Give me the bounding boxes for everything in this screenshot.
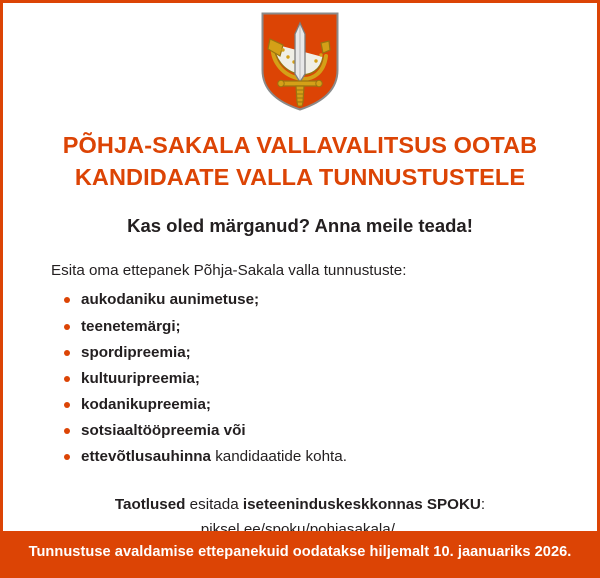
list-item-tail: kandidaatide kohta.	[211, 448, 347, 465]
announcement-poster: PÕHJA-SAKALA VALLAVALITSUS OOTAB KANDIDA…	[0, 0, 600, 578]
list-item-label: kultuuripreemia;	[81, 370, 200, 387]
bullet-dot-icon	[64, 402, 70, 408]
deadline-banner-text: Tunnustuse avaldamise ettepanekuid oodat…	[29, 544, 572, 562]
page-subtitle: Kas oled märganud? Anna meile teada!	[3, 194, 597, 238]
bullet-dot-icon	[64, 297, 70, 303]
list-item: kodanikupreemia;	[51, 392, 597, 418]
awards-intro-text: Esita oma ettepanek Põhja-Sakala valla t…	[51, 261, 597, 282]
page-title-line-1: PÕHJA-SAKALA VALLAVALITSUS OOTAB	[43, 129, 557, 161]
bullet-dot-icon	[64, 324, 70, 330]
list-item: spordipreemia;	[51, 340, 597, 366]
bullet-dot-icon	[64, 376, 70, 382]
pohja-sakala-coat-of-arms-icon	[261, 12, 339, 111]
bullet-dot-icon	[64, 428, 70, 434]
list-item-label: sotsiaaltööpreemia või	[81, 422, 246, 439]
awards-list: aukodaniku aunimetuse; teenetemärgi; spo…	[51, 287, 597, 470]
list-item-label: teenetemärgi;	[81, 318, 181, 335]
deadline-banner: Tunnustuse avaldamise ettepanekuid oodat…	[3, 531, 597, 575]
spoku-portal-label: iseteeninduskeskkonnas SPOKU	[243, 496, 481, 513]
crest-container	[3, 3, 597, 107]
list-item-label: aukodaniku aunimetuse;	[81, 291, 259, 308]
applications-colon: :	[481, 496, 485, 513]
list-item: ettevõtlusauhinna kandidaatide kohta.	[51, 444, 597, 470]
list-item-label: kodanikupreemia;	[81, 396, 211, 413]
poster-content: PÕHJA-SAKALA VALLAVALITSUS OOTAB KANDIDA…	[3, 3, 597, 575]
bullet-dot-icon	[64, 350, 70, 356]
list-item-label: spordipreemia;	[81, 344, 191, 361]
applications-verb: esitada	[185, 496, 242, 513]
list-item: kultuuripreemia;	[51, 366, 597, 392]
list-item: aukodaniku aunimetuse;	[51, 287, 597, 313]
list-item: sotsiaaltööpreemia või	[51, 418, 597, 444]
bullet-dot-icon	[64, 454, 70, 460]
page-title-line-2: KANDIDAATE VALLA TUNNUSTUSTELE	[43, 161, 557, 193]
applications-label: Taotlused	[115, 496, 186, 513]
list-item-label: ettevõtlusauhinna	[81, 448, 211, 465]
application-instructions-line-1: Taotlused esitada iseteeninduskeskkonnas…	[43, 492, 557, 517]
awards-section: Esita oma ettepanek Põhja-Sakala valla t…	[3, 238, 597, 471]
page-title: PÕHJA-SAKALA VALLAVALITSUS OOTAB KANDIDA…	[3, 107, 597, 194]
list-item: teenetemärgi;	[51, 314, 597, 340]
